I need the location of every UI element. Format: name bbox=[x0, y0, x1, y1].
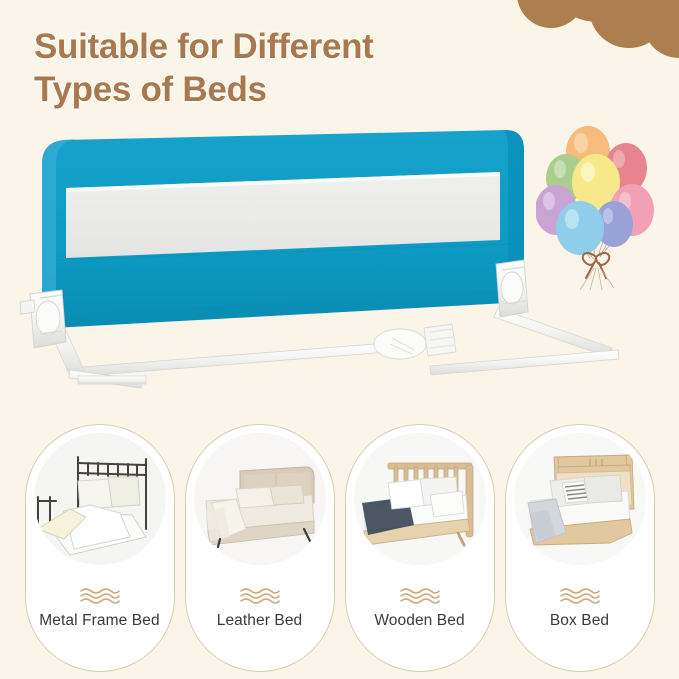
wave-divider-icon bbox=[79, 587, 121, 604]
page-title: Suitable for Different Types of Beds bbox=[34, 26, 514, 111]
hero-product-area bbox=[0, 112, 679, 404]
box-bed-illustration bbox=[514, 433, 646, 565]
bed-type-card-leather-bed[interactable]: Leather Bed bbox=[185, 424, 335, 672]
balloon-bunch-decoration bbox=[536, 116, 656, 291]
metal-frame-bed-photo bbox=[34, 433, 166, 565]
wave-divider-icon bbox=[559, 587, 601, 604]
left-clamp-hinge bbox=[20, 290, 66, 348]
balloon-bunch-icon bbox=[536, 116, 656, 291]
wooden-bed-photo bbox=[354, 433, 486, 565]
right-clamp-hinge bbox=[496, 260, 528, 317]
wooden-bed-illustration bbox=[354, 433, 486, 565]
bed-type-card-metal-frame-bed[interactable]: Metal Frame Bed bbox=[25, 424, 175, 672]
balloon-blue bbox=[556, 201, 604, 255]
headline-line-1: Suitable for Different bbox=[34, 27, 374, 66]
wave-divider-icon bbox=[239, 587, 281, 604]
bed-type-card-box-bed[interactable]: Box Bed bbox=[505, 424, 655, 672]
bed-type-label: Box Bed bbox=[510, 612, 650, 631]
promo-image-canvas: Suitable for Different Types of Beds bbox=[0, 0, 679, 679]
metal-frame-bed-illustration bbox=[34, 433, 166, 565]
leather-bed-photo bbox=[194, 433, 326, 565]
box-bed-photo bbox=[514, 433, 646, 565]
ribbon-bow bbox=[583, 253, 610, 278]
wave-divider-icon bbox=[399, 587, 441, 604]
leather-bed-illustration bbox=[194, 433, 326, 565]
bed-type-label: Wooden Bed bbox=[350, 612, 490, 631]
bed-type-card-wooden-bed[interactable]: Wooden Bed bbox=[345, 424, 495, 672]
headline-line-2: Types of Beds bbox=[34, 69, 514, 112]
bed-type-label: Leather Bed bbox=[190, 612, 330, 631]
bed-type-card-list: Metal Frame Bed bbox=[0, 424, 679, 676]
bed-type-label: Metal Frame Bed bbox=[30, 612, 170, 631]
center-adjuster-joint bbox=[374, 324, 456, 359]
